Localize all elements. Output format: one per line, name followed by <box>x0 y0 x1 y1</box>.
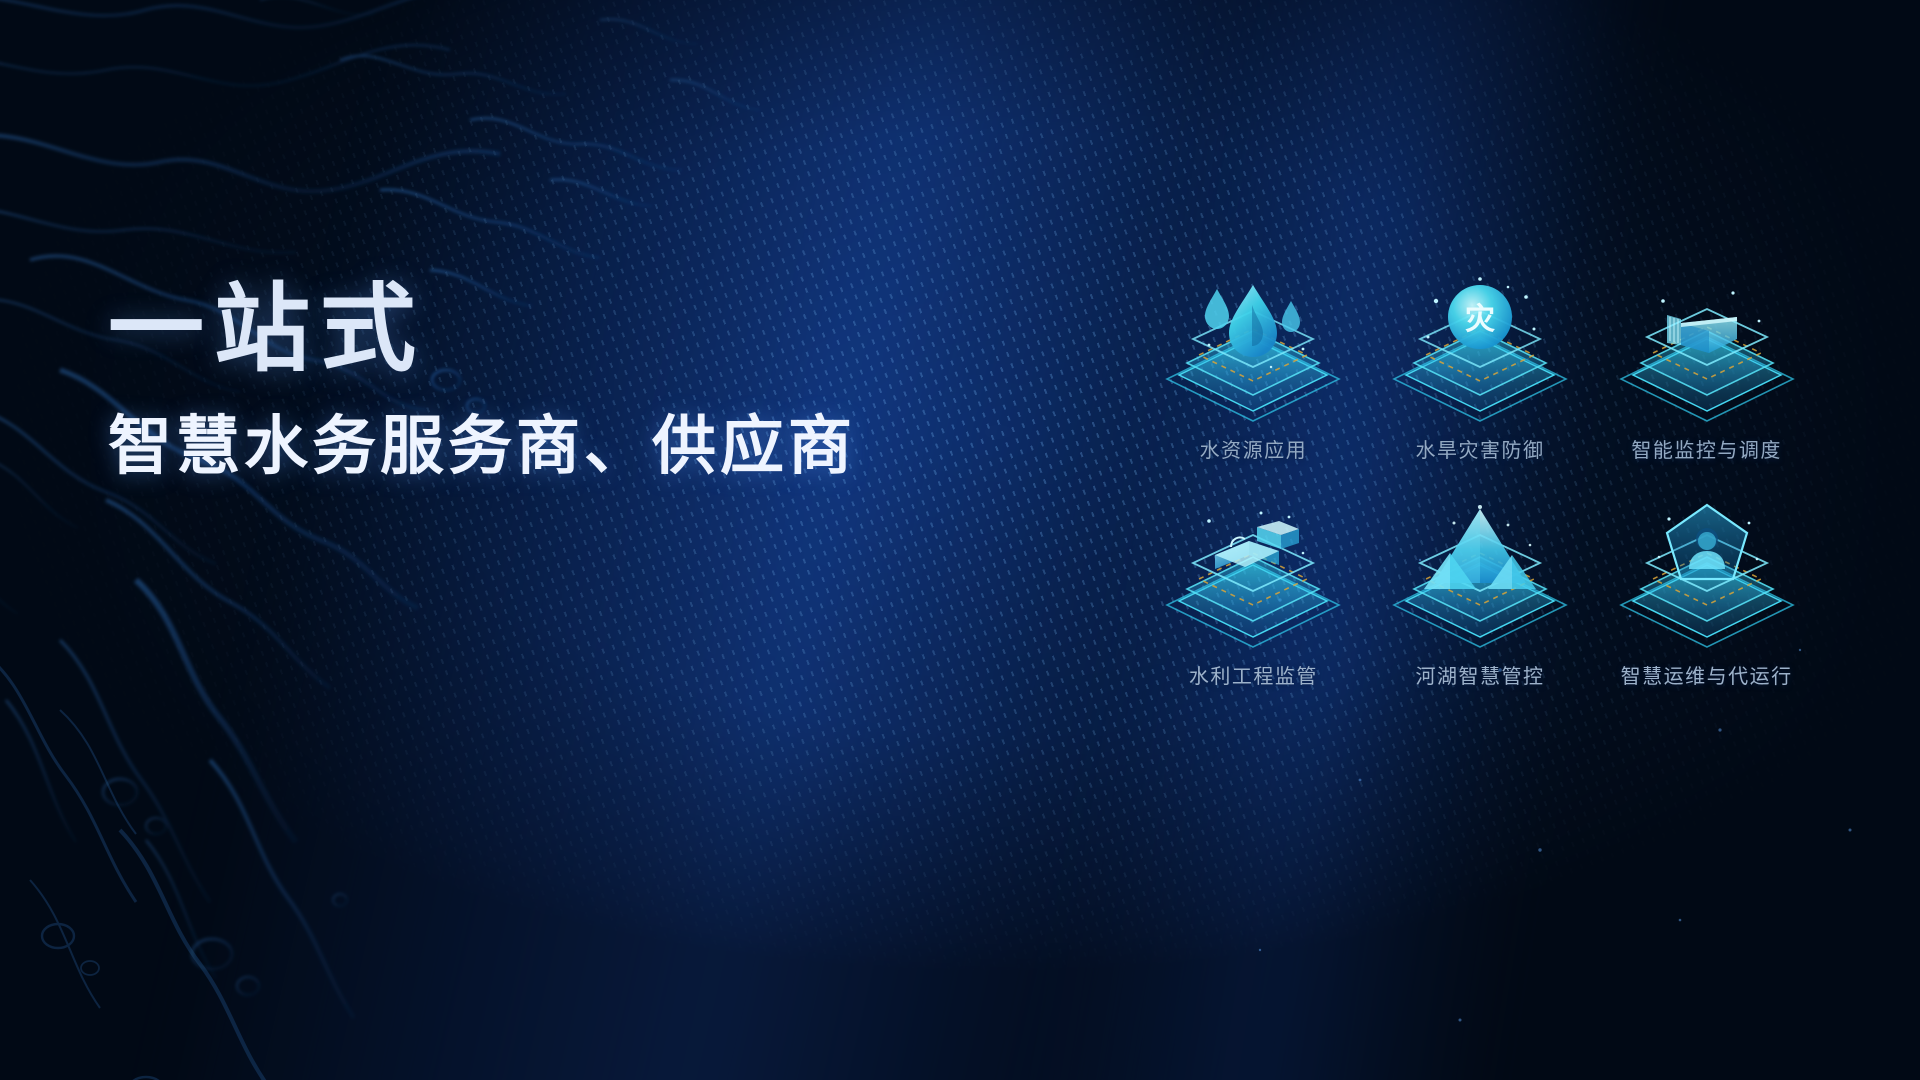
capability-card-smart-ops[interactable]: 智慧运维与代运行 <box>1593 494 1820 720</box>
shield-ops-icon <box>1603 494 1811 656</box>
water-drop-icon <box>1149 268 1357 430</box>
hero-text-block: 一站式 智慧水务服务商、供应商 <box>108 276 1068 484</box>
capability-card-water-resource[interactable]: 水资源应用 <box>1140 268 1367 494</box>
capability-label: 水旱灾害防御 <box>1415 434 1544 463</box>
capability-label: 水利工程监管 <box>1189 660 1318 689</box>
capability-label: 智慧运维与代运行 <box>1621 660 1793 689</box>
hydro-engineering-icon <box>1149 494 1357 656</box>
capability-grid: 水资源应用 <box>1140 268 1820 720</box>
capability-label: 河湖智慧管控 <box>1415 660 1544 689</box>
capability-label: 智能监控与调度 <box>1631 434 1782 463</box>
capability-card-hydro-engineering[interactable]: 水利工程监管 <box>1140 494 1367 720</box>
disaster-sphere-icon: 灾 <box>1376 268 1584 430</box>
svg-text:灾: 灾 <box>1465 302 1495 336</box>
capability-card-smart-monitoring[interactable]: 智能监控与调度 <box>1593 268 1820 494</box>
page-title: 一站式 <box>108 276 1068 384</box>
page-subtitle: 智慧水务服务商、供应商 <box>108 408 1068 485</box>
capability-card-river-lake-control[interactable]: 河湖智慧管控 <box>1367 494 1594 720</box>
dam-monitor-icon <box>1603 268 1811 430</box>
capability-card-disaster-defense[interactable]: 灾 水旱灾害防御 <box>1367 268 1594 494</box>
capability-label: 水资源应用 <box>1200 434 1308 463</box>
river-mountain-icon <box>1376 494 1584 656</box>
